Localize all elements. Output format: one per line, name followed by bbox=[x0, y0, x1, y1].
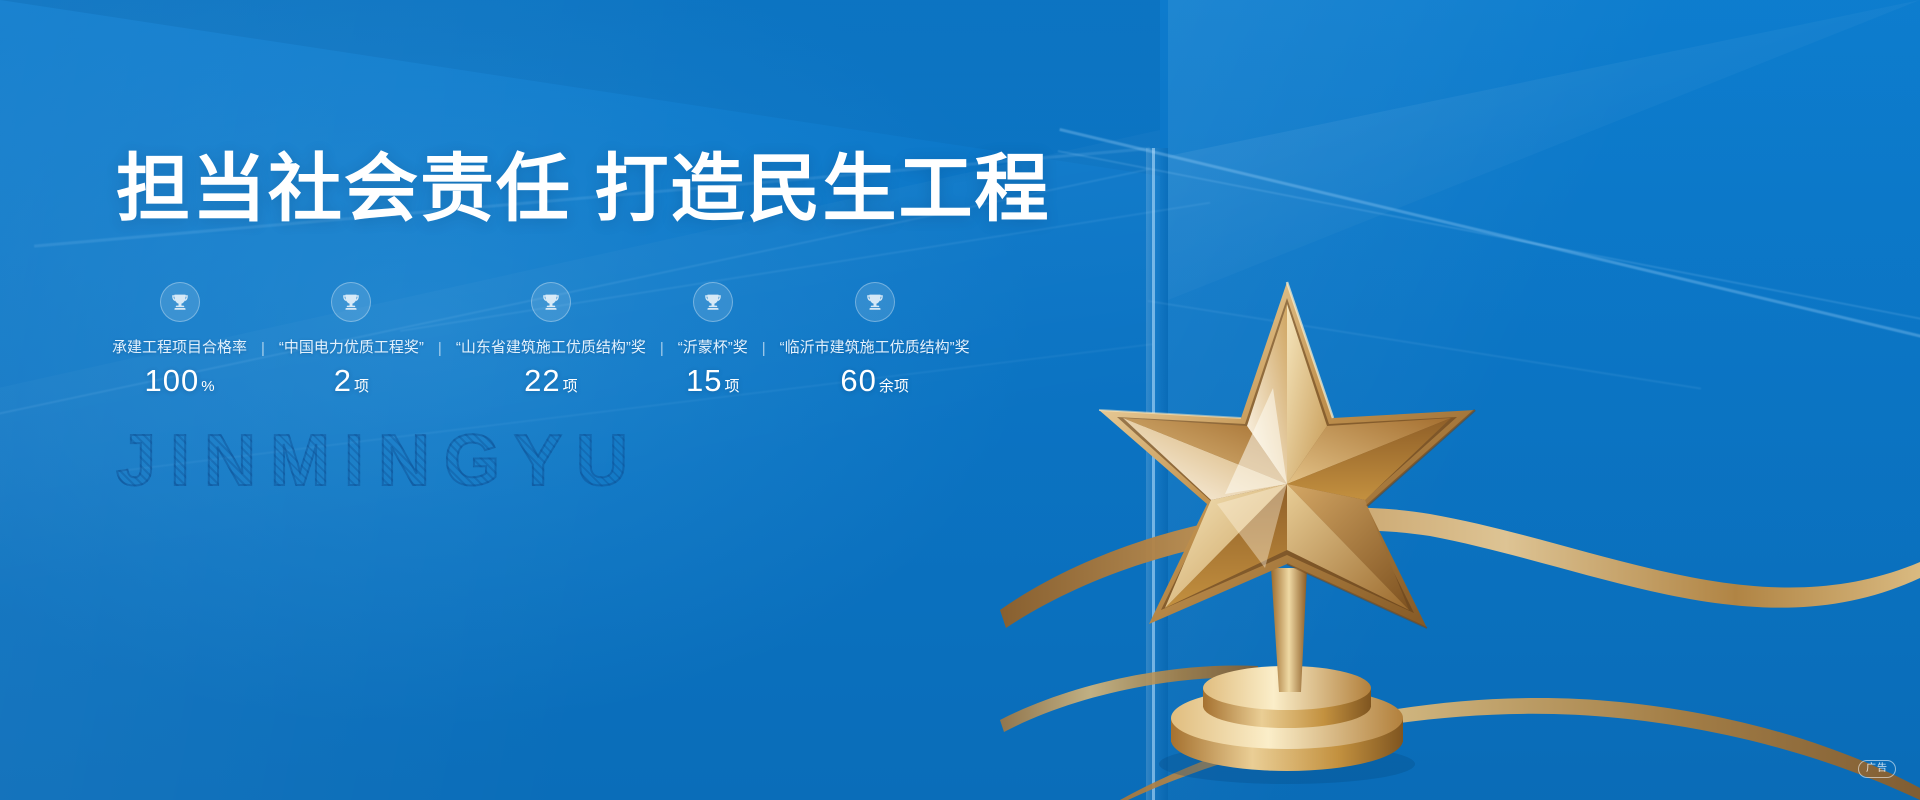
trophy-icon bbox=[693, 282, 733, 322]
stat-separator: | bbox=[660, 282, 664, 357]
stat-item: 承建工程项目合格率 100 % bbox=[108, 282, 251, 399]
stat-item: “山东省建筑施工优质结构”奖 22 项 bbox=[452, 282, 650, 399]
stat-label: “沂蒙杯”奖 bbox=[678, 340, 748, 357]
stat-value: 2 项 bbox=[334, 363, 369, 399]
brand-watermark: JINMINGYU bbox=[116, 420, 642, 502]
stat-value: 100 % bbox=[144, 363, 214, 399]
background-facet-wedge-b bbox=[0, 0, 1160, 800]
background-facet-left bbox=[0, 0, 1160, 800]
stats-row: 承建工程项目合格率 100 % | “中国电力优质工程奖” 2 项 | bbox=[108, 282, 974, 399]
stat-number: 15 bbox=[686, 363, 722, 399]
stat-label: “临沂市建筑施工优质结构”奖 bbox=[780, 340, 970, 357]
stat-label: “山东省建筑施工优质结构”奖 bbox=[456, 340, 646, 357]
ad-badge[interactable]: 广告 bbox=[1858, 760, 1896, 778]
stat-unit: 项 bbox=[354, 375, 369, 396]
trophy-icon bbox=[160, 282, 200, 322]
stat-label: “中国电力优质工程奖” bbox=[279, 340, 424, 357]
stat-unit: 项 bbox=[724, 375, 739, 396]
banner-headline: 担当社会责任 打造民生工程 bbox=[116, 152, 1051, 226]
trophy-icon bbox=[331, 282, 371, 322]
stat-item: “中国电力优质工程奖” 2 项 bbox=[275, 282, 428, 399]
stat-number: 2 bbox=[334, 363, 352, 399]
stat-unit: 余项 bbox=[879, 375, 909, 396]
banner-stage: JINMINGYU 担当社会责任 打造民生工程 承建工程项目合格率 100 % … bbox=[0, 0, 1920, 800]
stat-item: “临沂市建筑施工优质结构”奖 60 余项 bbox=[776, 282, 974, 399]
stat-number: 22 bbox=[524, 363, 560, 399]
trophy-icon bbox=[531, 282, 571, 322]
trophy-icon bbox=[855, 282, 895, 322]
stat-unit: 项 bbox=[563, 375, 578, 396]
stat-number: 100 bbox=[144, 363, 199, 399]
stat-number: 60 bbox=[840, 363, 876, 399]
stat-separator: | bbox=[762, 282, 766, 357]
stat-separator: | bbox=[261, 282, 265, 357]
star-trophy-sculpture bbox=[1075, 268, 1635, 800]
background-facet-right-top bbox=[1168, 0, 1920, 300]
stat-item: “沂蒙杯”奖 15 项 bbox=[674, 282, 752, 399]
stat-value: 60 余项 bbox=[840, 363, 909, 399]
stat-separator: | bbox=[438, 282, 442, 357]
stat-value: 22 项 bbox=[524, 363, 578, 399]
stat-value: 15 项 bbox=[686, 363, 740, 399]
stat-unit: % bbox=[201, 378, 214, 395]
stat-label: 承建工程项目合格率 bbox=[112, 340, 247, 357]
